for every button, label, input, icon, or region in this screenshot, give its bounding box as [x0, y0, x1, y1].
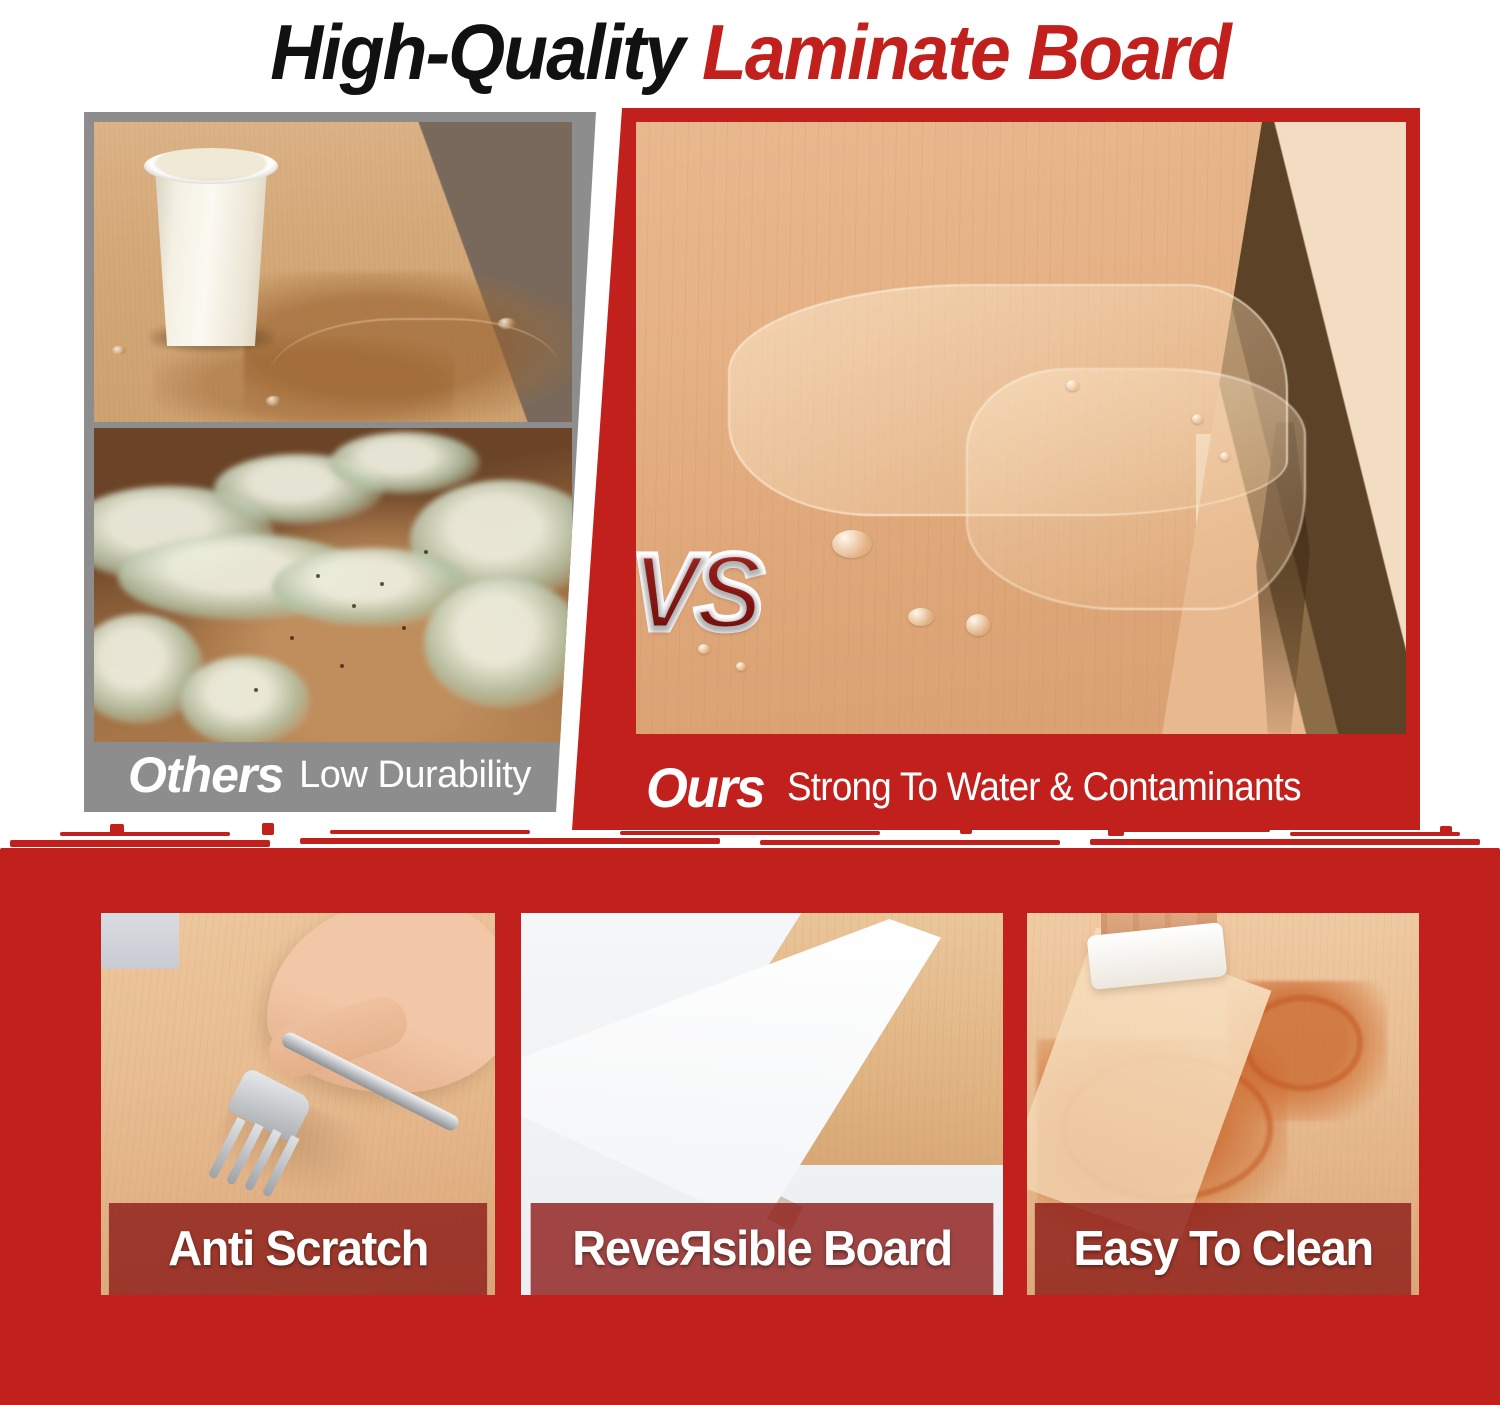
mold-spore [402, 626, 406, 630]
water-bead [1220, 452, 1230, 461]
paper-cup [150, 156, 272, 346]
water-bead [1192, 414, 1203, 424]
feature-cards: Anti Scratch ReveЯsible Board [0, 908, 1500, 1308]
mold-patch [330, 432, 480, 494]
droplet-icon [498, 318, 516, 329]
photo-spill-on-mdf [94, 122, 572, 422]
water-bead [736, 662, 746, 671]
ours-panel: Ours Strong To Water & Contaminants [572, 108, 1420, 830]
feature-card-easy-to-clean[interactable]: Easy To Clean [1022, 908, 1424, 1300]
water-puddle-secondary [966, 368, 1306, 610]
page-title-part-2: Laminate Board [702, 8, 1230, 96]
others-description: Low Durability [299, 754, 531, 797]
mold-spore [254, 688, 258, 692]
mold-spore [380, 582, 384, 586]
brush-stroke-texture [0, 818, 1500, 868]
others-photo-stack [94, 122, 572, 742]
mold-patch [424, 578, 572, 708]
page-title: High-Quality Laminate Board [45, 6, 1455, 98]
spill-edge-highlight [269, 318, 559, 422]
others-caption-bar: Others Low Durability [84, 738, 596, 812]
others-label: Others [128, 746, 283, 804]
droplet-icon [266, 396, 282, 406]
others-panel: Others Low Durability [84, 112, 596, 812]
ours-description: Strong To Water & Contaminants [787, 765, 1301, 810]
background-strip [101, 913, 179, 969]
mold-spore [316, 574, 320, 578]
page-title-part-1: High-Quality [270, 8, 683, 96]
feature-card-anti-scratch[interactable]: Anti Scratch [96, 908, 500, 1300]
water-bead [832, 530, 872, 558]
mold-spore [424, 550, 428, 554]
mold-spore [352, 604, 356, 608]
photo-mold-damage [94, 428, 572, 742]
feature-caption: Easy To Clean [1035, 1203, 1411, 1295]
vs-badge: VS [605, 532, 786, 652]
mold-spore [290, 636, 294, 640]
ours-label: Ours [646, 755, 764, 820]
water-bead [966, 614, 990, 636]
mold-spore [340, 664, 344, 668]
droplet-icon [112, 346, 126, 355]
comparison-section: Others Low Durability Ours Strong To Wat… [0, 108, 1500, 830]
mold-patch [180, 656, 310, 742]
feature-caption: Anti Scratch [109, 1203, 487, 1295]
feature-card-reversible-board[interactable]: ReveЯsible Board [516, 908, 1008, 1300]
paper-cup-rim [144, 148, 278, 184]
feature-caption: ReveЯsible Board [531, 1203, 994, 1295]
water-bead [1066, 380, 1079, 391]
water-bead [908, 608, 934, 626]
